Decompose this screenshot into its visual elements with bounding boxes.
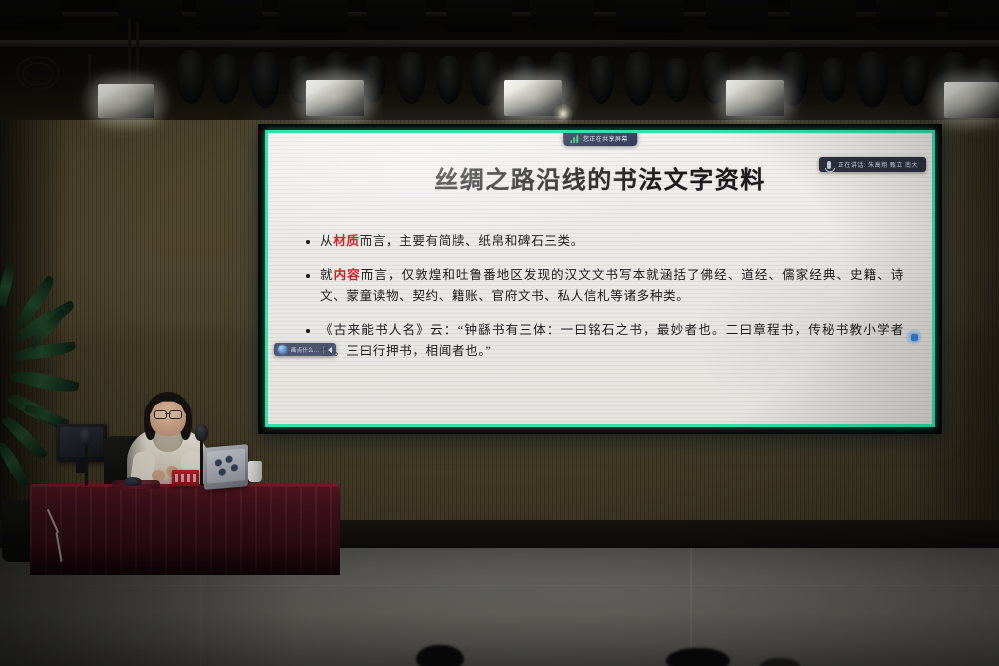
annotate-widget[interactable]: 画点什么... [274,343,336,356]
slide-bullet-list: 从材质而言，主要有简牍、纸帛和碑石三类。 就内容而言，仅敦煌和吐鲁番地区发现的汉… [304,231,904,375]
ceiling-light-fixture [366,0,426,30]
active-speaker-label: 正在讲话: 朱高翔 甄立 南大 [838,160,918,169]
slide-bullet-item: 《古来能书人名》云：“钟繇书有三体：一曰铭石之书，最妙者也。二曰章程书，传秘书教… [304,320,904,362]
ceiling-light-fixture [0,0,62,30]
bullet-text-pre: 从 [320,234,333,248]
ceiling-light-fixture [948,0,999,31]
microphone-head [79,428,92,445]
ceiling-light-fixture [706,0,768,30]
screen-share-toast: 您正在共享屏幕 [563,133,637,146]
ceiling-truss [0,40,999,47]
divider [323,346,324,354]
collapse-caret-icon[interactable] [328,347,332,353]
microphone-icon [827,161,831,169]
lecture-hall-photo: 丝绸之路沿线的书法文字资料 从材质而言，主要有简牍、纸帛和碑石三类。 就内容而言… [0,0,999,666]
active-speaker-pill: 正在讲话: 朱高翔 甄立 南大 [819,157,926,172]
ceiling-light-fixture [790,0,856,32]
bullet-text-post: 而言，仅敦煌和吐鲁番地区发现的汉文文书写本就涵括了佛经、道经、儒家经典、史籍、诗… [320,268,904,303]
ceiling-light-fixture [616,0,684,33]
table-shadow [30,545,340,575]
laptop-lid-pattern [207,448,245,483]
ceiling-light-fixture [196,0,262,30]
hanging-cable [128,18,131,92]
ceiling-light-fixture [530,0,594,30]
paper-cup [248,461,262,482]
bullet-text-highlight: 材质 [333,234,359,248]
stage-softbox-light [306,80,364,116]
annotate-dot-icon[interactable] [278,345,287,354]
bullet-text-post: 而言，主要有简牍、纸帛和碑石三类。 [360,234,584,248]
ceiling-light-fixture [446,0,512,32]
slide-bullet-item: 从材质而言，主要有简牍、纸帛和碑石三类。 [304,231,904,252]
bullet-text-highlight: 内容 [334,268,361,282]
ceiling-light-fixture [876,0,936,30]
spot-light-flare [552,104,574,124]
signal-bars-icon [570,135,578,143]
computer-mouse [124,477,142,486]
coiled-cable [22,62,54,86]
ceiling-light-fixture [278,0,348,33]
presenter-glasses [153,410,183,418]
hanging-cable [136,22,139,92]
stage-softbox-light [98,84,154,118]
stage-softbox-light [726,80,784,116]
share-toast-label: 您正在共享屏幕 [583,134,628,143]
name-placard [172,470,199,486]
stage-softbox-light [944,82,999,118]
shared-slide[interactable]: 丝绸之路沿线的书法文字资料 从材质而言，主要有简牍、纸帛和碑石三类。 就内容而言… [268,133,932,424]
microphone-head [195,424,208,441]
floor-object [666,648,730,666]
floor-object [416,645,464,666]
remote-cursor-dot [906,329,922,345]
bullet-text-post: 《古来能书人名》云：“钟繇书有三体：一曰铭石之书，最妙者也。二曰章程书，传秘书教… [320,323,904,358]
hanging-cable [88,54,91,100]
bullet-text-pre: 就 [320,268,334,282]
annotate-widget-label: 画点什么... [291,346,319,354]
slide-bullet-item: 就内容而言，仅敦煌和吐鲁番地区发现的汉文文书写本就涵括了佛经、道经、儒家经典、史… [304,265,904,307]
